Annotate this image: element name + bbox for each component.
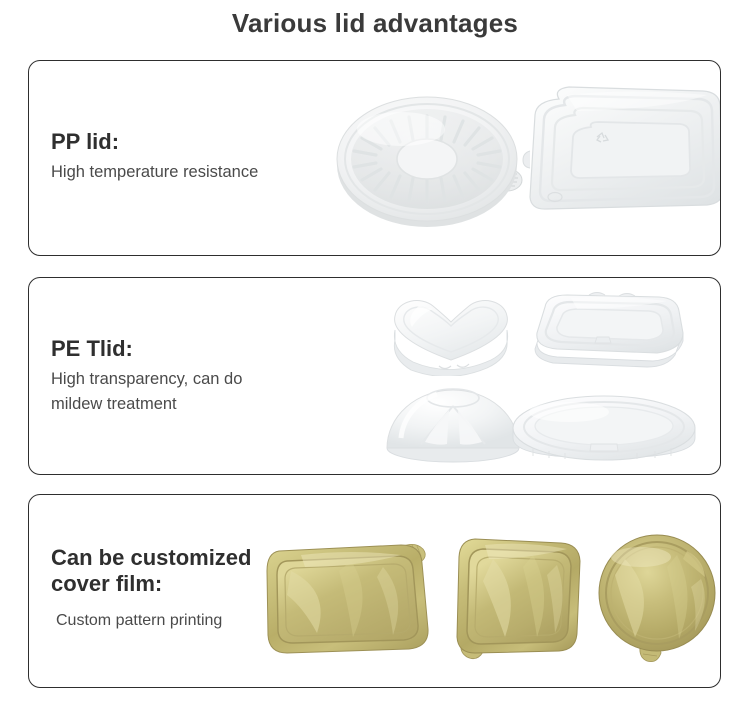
oval-flat-lid-image	[507, 386, 702, 464]
square-flat-lid-image	[527, 283, 692, 375]
panel-pp-lid-description: High temperature resistance	[51, 160, 258, 186]
panel-cover-film-heading: Can be customized cover film:	[51, 545, 251, 596]
panel-pe-lid-description: High transparency, can do mildew treatme…	[51, 367, 242, 418]
rectangular-pp-lid-image	[517, 71, 721, 236]
panel-pp-lid-heading: PP lid:	[51, 129, 258, 155]
panel-cover-film-text: Can be customized cover film: Custom pat…	[51, 545, 251, 634]
gold-round-foil-lid-image	[591, 533, 721, 663]
heart-dome-lid-image	[381, 286, 521, 376]
round-pp-lid-image	[331, 83, 541, 233]
panel-pe-lid-text: PE Tlid: High transparency, can do milde…	[51, 336, 242, 418]
gold-rectangular-foil-lid-image	[261, 537, 436, 657]
panel-pp-lid: PP lid: High temperature resistance	[28, 60, 721, 256]
panel-cover-film: Can be customized cover film: Custom pat…	[28, 494, 721, 688]
panel-pp-lid-text: PP lid: High temperature resistance	[51, 129, 258, 185]
panel-cover-film-description: Custom pattern printing	[51, 601, 251, 634]
panel-pe-lid: PE Tlid: High transparency, can do milde…	[28, 277, 721, 475]
page-title: Various lid advantages	[0, 8, 750, 39]
dome-cup-lid-image	[381, 378, 526, 466]
panel-pe-lid-heading: PE Tlid:	[51, 336, 242, 362]
gold-square-foil-lid-image	[449, 533, 589, 661]
